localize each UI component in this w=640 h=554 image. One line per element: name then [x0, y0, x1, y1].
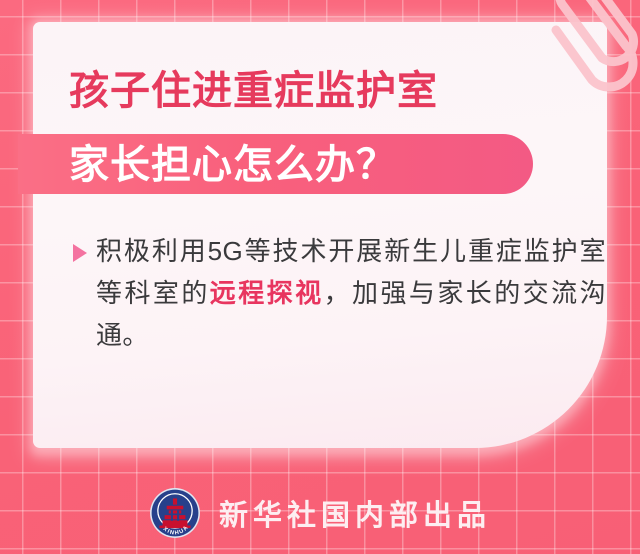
content-card: 孩子住进重症监护室 家长担心怎么办？ 积极利用5G等技术开展新生儿重症监护室等科…	[33, 22, 607, 448]
triangle-right-icon	[73, 244, 87, 262]
poster-root: 孩子住进重症监护室 家长担心怎么办？ 积极利用5G等技术开展新生儿重症监护室等科…	[0, 0, 640, 554]
footer-text: 新华社国内部出品	[219, 492, 491, 534]
headline-line-2: 家长担心怎么办？	[69, 141, 397, 189]
xinhua-agency-logo-icon: XINHUA	[149, 487, 201, 539]
headline-line-1: 孩子住进重症监护室	[69, 66, 438, 116]
body-text: 积极利用5G等技术开展新生儿重症监护室等科室的远程探视，加强与家长的交流沟通。	[71, 230, 606, 356]
body-paragraph-block: 积极利用5G等技术开展新生儿重症监护室等科室的远程探视，加强与家长的交流沟通。	[71, 230, 606, 356]
footer-bar: XINHUA 新华社国内部出品	[0, 478, 640, 548]
body-highlight: 远程探视	[210, 278, 324, 308]
